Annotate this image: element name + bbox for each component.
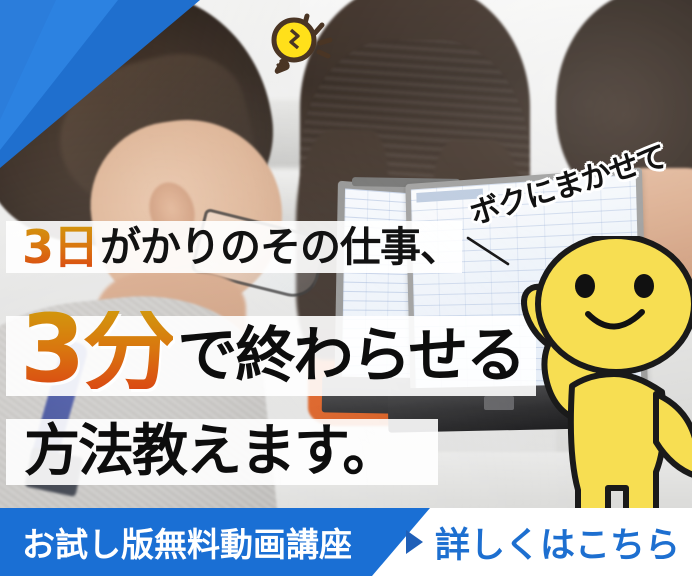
mascot-head xyxy=(538,236,692,372)
play-triangle-icon xyxy=(406,530,423,554)
headline-line-3: 方法教えます。 xyxy=(6,419,438,485)
headline-line-1: 3日 がかりのその仕事、 xyxy=(6,221,462,273)
mascot-body xyxy=(571,374,664,524)
lightbulb-icon xyxy=(258,6,344,80)
headline-line-1-accent: 3日 xyxy=(22,224,98,270)
promo-banner: 3日 がかりのその仕事、 3分 で終わらせる 方法教えます。 ボクにまかせて xyxy=(0,0,692,576)
headline-line-3-text: 方法教えます。 xyxy=(24,424,396,480)
headline-line-2-accent: 3分 xyxy=(20,311,173,388)
headline-line-2: 3分 で終わらせる xyxy=(6,316,536,396)
headline-line-1-rest: がかりのその仕事、 xyxy=(100,227,460,268)
yellow-mascot-character xyxy=(496,236,692,528)
cta-bar: お試し版無料動画講座 詳しくはこちら xyxy=(0,508,692,576)
headline-line-2-rest: で終わらせる xyxy=(177,326,524,386)
cta-left-label[interactable]: お試し版無料動画講座 xyxy=(22,508,352,576)
cta-right-label[interactable]: 詳しくはこちら xyxy=(435,517,680,568)
cta-right-link[interactable]: 詳しくはこちら xyxy=(406,508,680,576)
mascot-eye-right xyxy=(634,274,654,298)
mascot-eye-left xyxy=(575,274,595,298)
